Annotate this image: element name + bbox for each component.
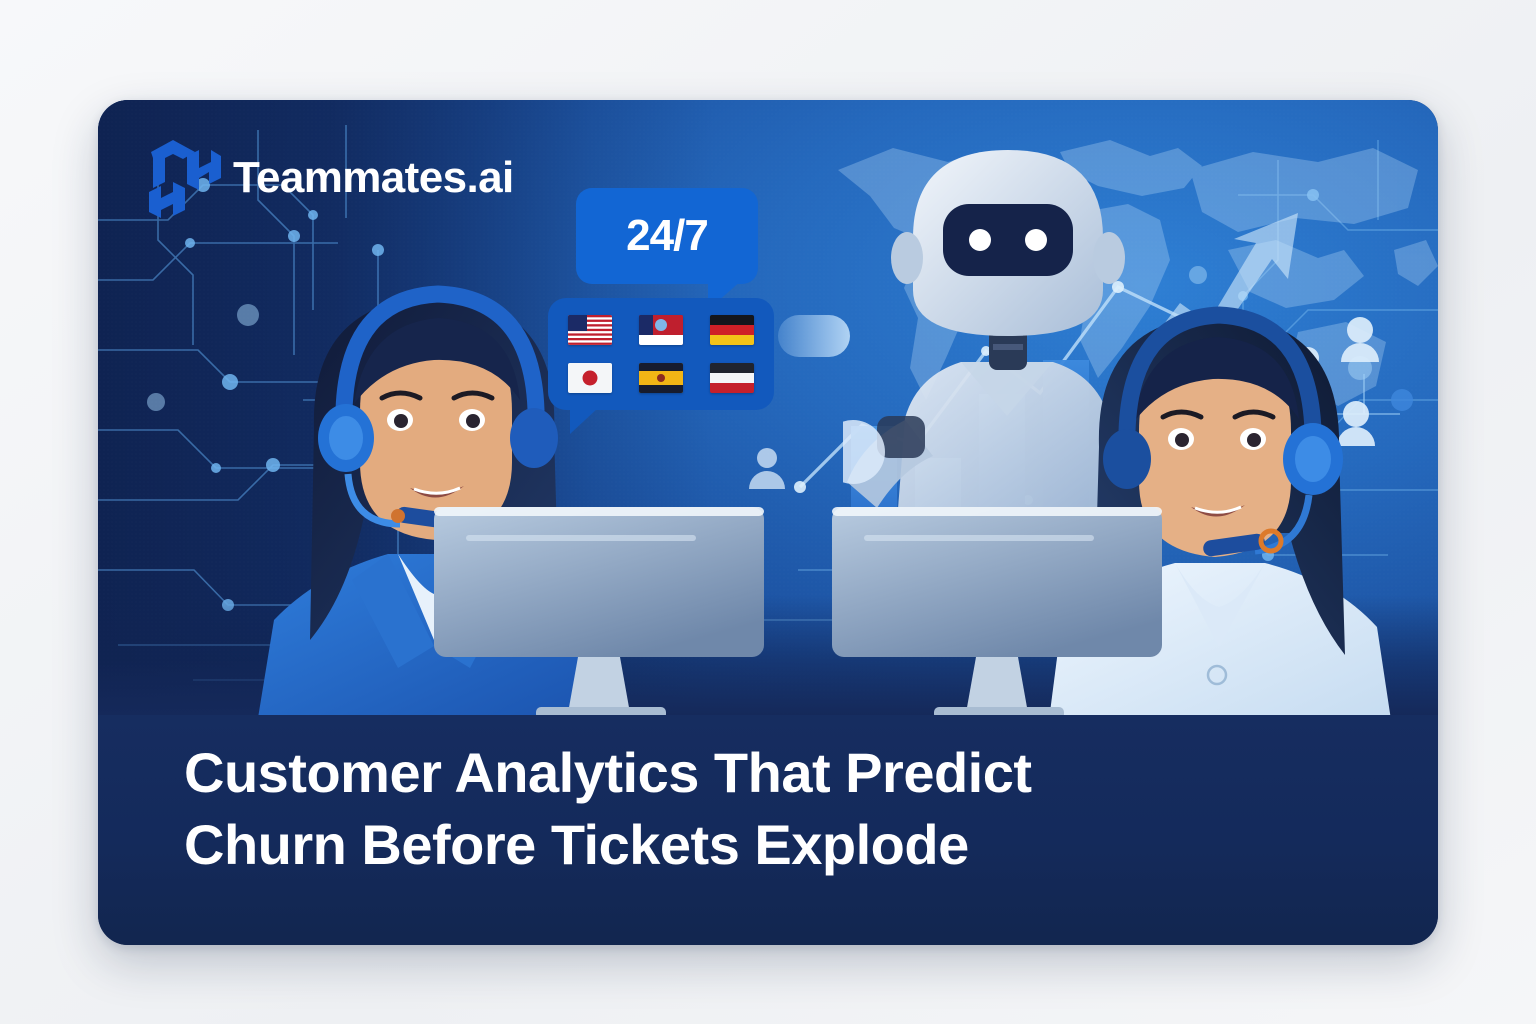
brand-logo[interactable]: Teammates.ai xyxy=(143,138,514,218)
hero-card: 24/7 xyxy=(98,100,1438,945)
flag-grid xyxy=(562,310,760,398)
desktop-monitor-icon xyxy=(428,495,1168,715)
hero-illustration: 24/7 xyxy=(98,100,1438,715)
teammates-hexagon-logo-icon xyxy=(143,138,221,218)
russia-flag-icon xyxy=(710,363,754,393)
germany-flag-icon xyxy=(710,315,754,345)
chat-pill-glow xyxy=(778,315,850,357)
japan-flag-icon xyxy=(568,363,612,393)
badge-24-7[interactable]: 24/7 xyxy=(576,188,758,284)
title-line-2: Churn Before Tickets Explode xyxy=(184,809,1352,881)
languages-bubble[interactable] xyxy=(548,298,774,410)
brand-name: Teammates.ai xyxy=(233,153,514,203)
user-icon xyxy=(746,445,788,489)
spain-flag-icon xyxy=(639,363,683,393)
united-states-flag-icon xyxy=(568,315,612,345)
badge-24-7-label: 24/7 xyxy=(626,211,708,261)
card-title-block: Customer Analytics That Predict Churn Be… xyxy=(98,715,1438,945)
screenshot-root: 24/7 xyxy=(0,0,1536,1024)
france-flag-icon xyxy=(639,315,683,345)
title-line-1: Customer Analytics That Predict xyxy=(184,737,1352,809)
